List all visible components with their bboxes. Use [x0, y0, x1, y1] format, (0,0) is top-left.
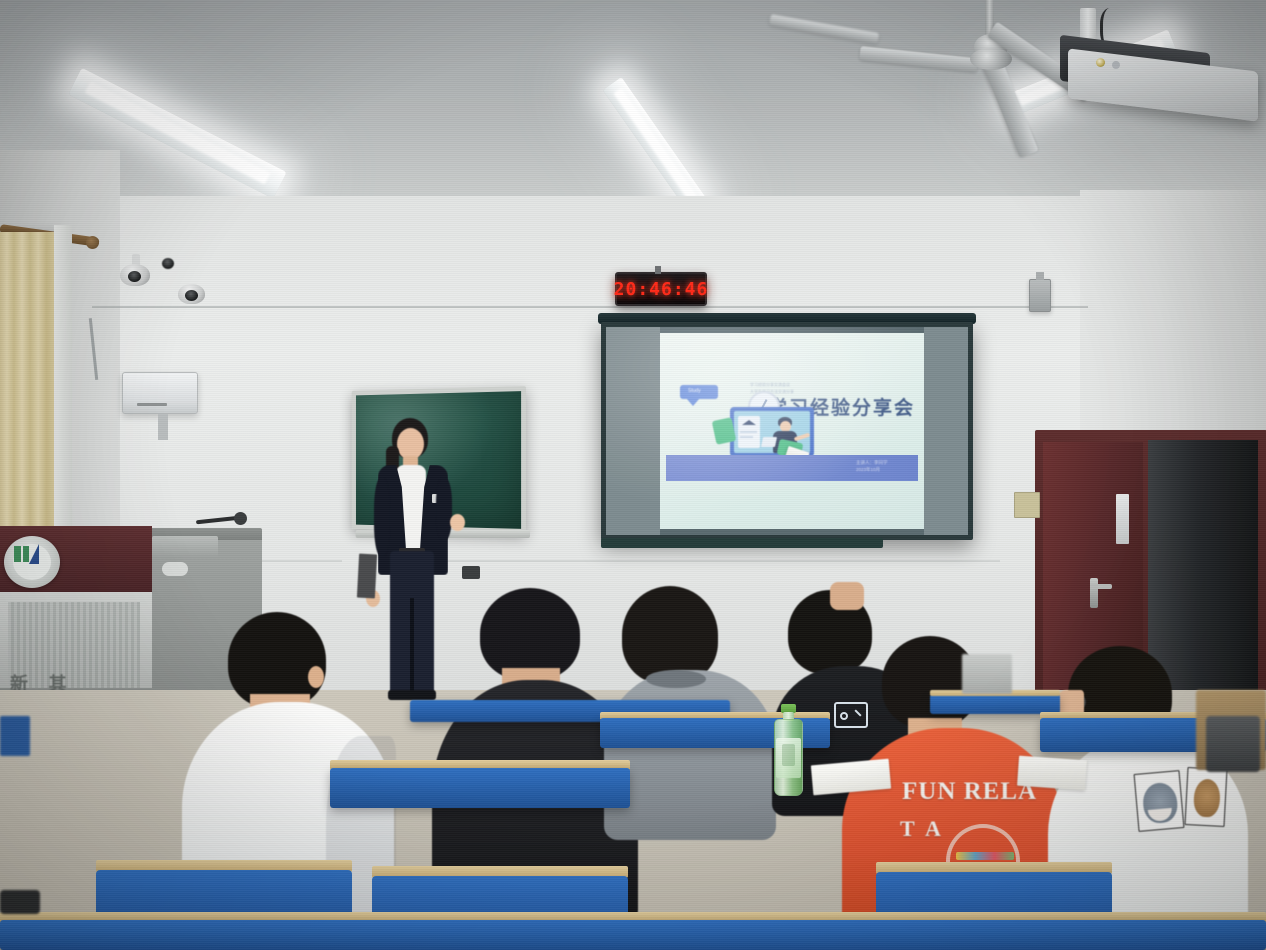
- wall-control-box: [122, 372, 198, 414]
- tom-jerry-print-right: [1185, 767, 1228, 827]
- water-bottle: [770, 704, 806, 796]
- door-handle: [1090, 578, 1098, 608]
- slide-footer-line1: 主讲人：李同学: [856, 460, 888, 467]
- presenter-right-arm: [436, 478, 452, 540]
- student-hoodie-collar: [646, 670, 706, 688]
- side-bag: [1206, 716, 1260, 772]
- university-emblem: [4, 536, 60, 588]
- side-desk-left: [0, 716, 30, 756]
- clock-time-display: 20:46:46: [614, 279, 709, 300]
- wall-speaker: [1029, 279, 1051, 312]
- surveillance-camera: [178, 282, 212, 310]
- student-hoodie: [604, 670, 776, 840]
- door-handle-lever: [1090, 584, 1112, 589]
- student-raised-hand: [830, 582, 864, 610]
- camera-dome-small: [162, 258, 174, 269]
- foreground-dark-object: [0, 890, 40, 914]
- ceiling-projector: [1060, 8, 1266, 128]
- window-curtain: [0, 232, 58, 552]
- back-wall-box: [962, 654, 1012, 694]
- surveillance-camera: [118, 254, 158, 288]
- wall-plate: [1014, 492, 1040, 518]
- classroom-photo: 20:46:46 Study 学习经验分享交流会议 大学生学习方法交流分享 学习…: [0, 0, 1266, 950]
- wall-trim: [92, 306, 1088, 308]
- podium-control-panel: [152, 536, 218, 558]
- podium-knob: [162, 562, 188, 576]
- wall-conduit: [158, 414, 168, 440]
- desk: [330, 768, 630, 808]
- presenter-right-hand: [450, 514, 465, 531]
- curtain-rod-finial: [86, 236, 99, 249]
- slide-footer-line2: 2023年10月: [856, 467, 888, 474]
- wall-trim: [440, 560, 1000, 562]
- notebook-papers: [1017, 756, 1087, 791]
- desk: [930, 694, 1060, 714]
- clock-bracket: [655, 266, 661, 274]
- projection-screen: Study 学习经验分享交流会议 大学生学习方法交流分享 学习经验分享会: [601, 322, 973, 540]
- door-window: [1116, 494, 1129, 544]
- foreground-desk: [0, 920, 1266, 950]
- slide-footer-text: 主讲人：李同学 2023年10月: [856, 460, 888, 474]
- tom-jerry-print-left: [1134, 770, 1185, 832]
- slide-bubble-label: Study: [688, 388, 701, 394]
- wall-digital-clock: 20:46:46: [615, 272, 707, 306]
- projected-slide: Study 学习经验分享交流会议 大学生学习方法交流分享 学习经验分享会: [660, 333, 924, 529]
- shirt-text-line2: TA: [900, 816, 953, 842]
- presenter-notebook: [357, 554, 377, 599]
- wall-speaker-bracket: [1036, 272, 1044, 280]
- student-hair: [480, 588, 580, 680]
- student-ear: [308, 666, 324, 688]
- ceiling-fan: [760, 0, 880, 40]
- shirt-color-band: [956, 852, 1014, 860]
- podium-microphone-head: [234, 512, 247, 525]
- presenter-left-arm: [374, 478, 390, 556]
- screen-bottom-bar: [601, 538, 883, 548]
